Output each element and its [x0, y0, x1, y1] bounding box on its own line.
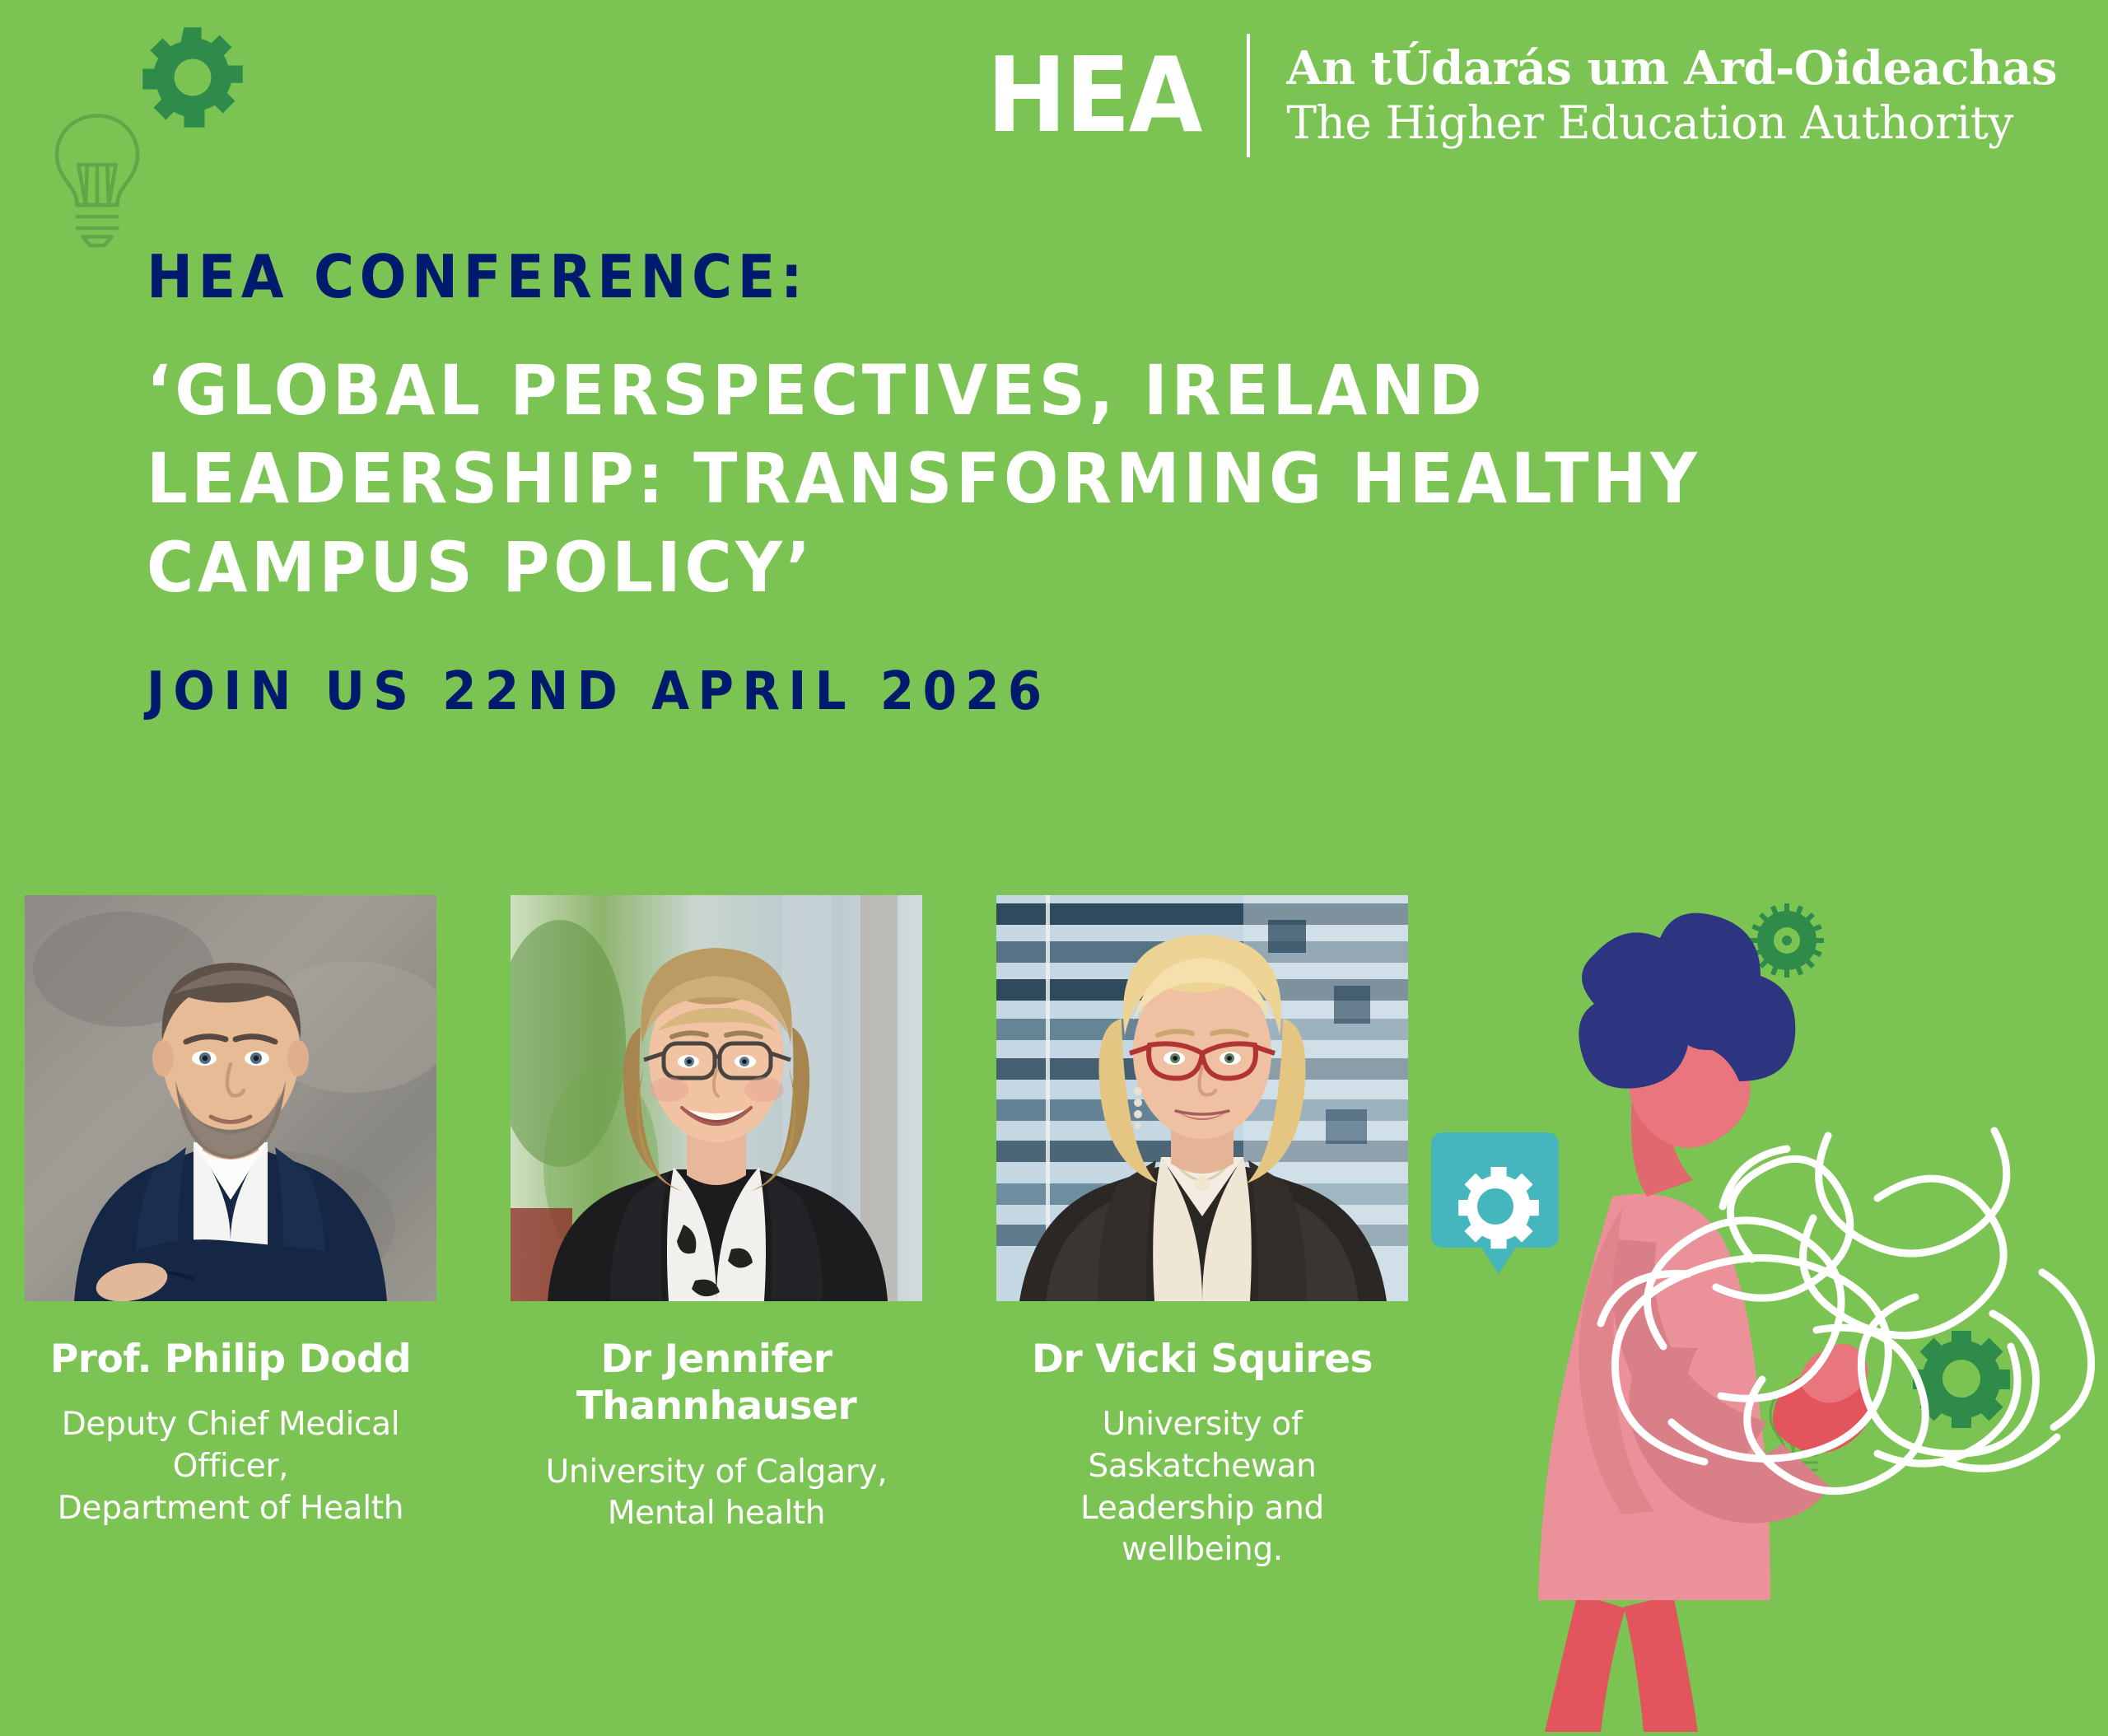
speaker-photo-vicki-squires [996, 895, 1408, 1301]
conference-date: JOIN US 22ND APRIL 2026 [147, 663, 1709, 721]
logo-english-name: The Higher Education Authority [1286, 99, 2057, 147]
speaker-card: Prof. Philip Dodd Deputy Chief Medical O… [25, 895, 436, 1571]
speaker-name: Dr Jennifer Thannhauser [511, 1336, 922, 1430]
speaker-card: Dr Vicki Squires University of Saskatche… [996, 895, 1408, 1571]
gear-icon [1750, 903, 1824, 978]
conference-title: ‘GLOBAL PERSPECTIVES, IRELAND LEADERSHIP… [147, 347, 1826, 613]
logo-mark: HEA [987, 44, 1208, 147]
gear-icon [1431, 1132, 1559, 1274]
logo-divider [1247, 34, 1250, 157]
woman-untangling-scribble-illustration [1416, 885, 2108, 1732]
speakers-row: Prof. Philip Dodd Deputy Chief Medical O… [25, 895, 1416, 1571]
speaker-photo-philip-dodd [25, 895, 436, 1301]
speaker-name: Prof. Philip Dodd [50, 1336, 411, 1383]
speaker-role: University of Saskatchewan Leadership an… [996, 1404, 1408, 1571]
title-line-3: CAMPUS POLICY’ [147, 524, 1709, 613]
speaker-role: Deputy Chief Medical Officer, Department… [25, 1404, 436, 1529]
hea-logo: HEA An tÚdarás um Ard-Oideachas The High… [968, 30, 2057, 161]
logo-names: An tÚdarás um Ard-Oideachas The Higher E… [1286, 44, 2057, 147]
speaker-card: Dr Jennifer Thannhauser University of Ca… [511, 895, 922, 1571]
lightbulb-icon [40, 107, 155, 251]
speaker-name: Dr Vicki Squires [1032, 1336, 1373, 1383]
speaker-photo-jennifer-thannhauser [511, 895, 922, 1301]
title-line-2: LEADERSHIP: TRANSFORMING HEALTHY [147, 435, 1709, 524]
title-line-1: ‘GLOBAL PERSPECTIVES, IRELAND [147, 347, 1709, 436]
headline-block: HEA CONFERENCE: ‘GLOBAL PERSPECTIVES, IR… [147, 244, 1826, 721]
speaker-role: University of Calgary, Mental health [546, 1452, 888, 1535]
logo-irish-name: An tÚdarás um Ard-Oideachas [1286, 44, 2057, 93]
conference-kicker: HEA CONFERENCE: [147, 244, 1709, 310]
